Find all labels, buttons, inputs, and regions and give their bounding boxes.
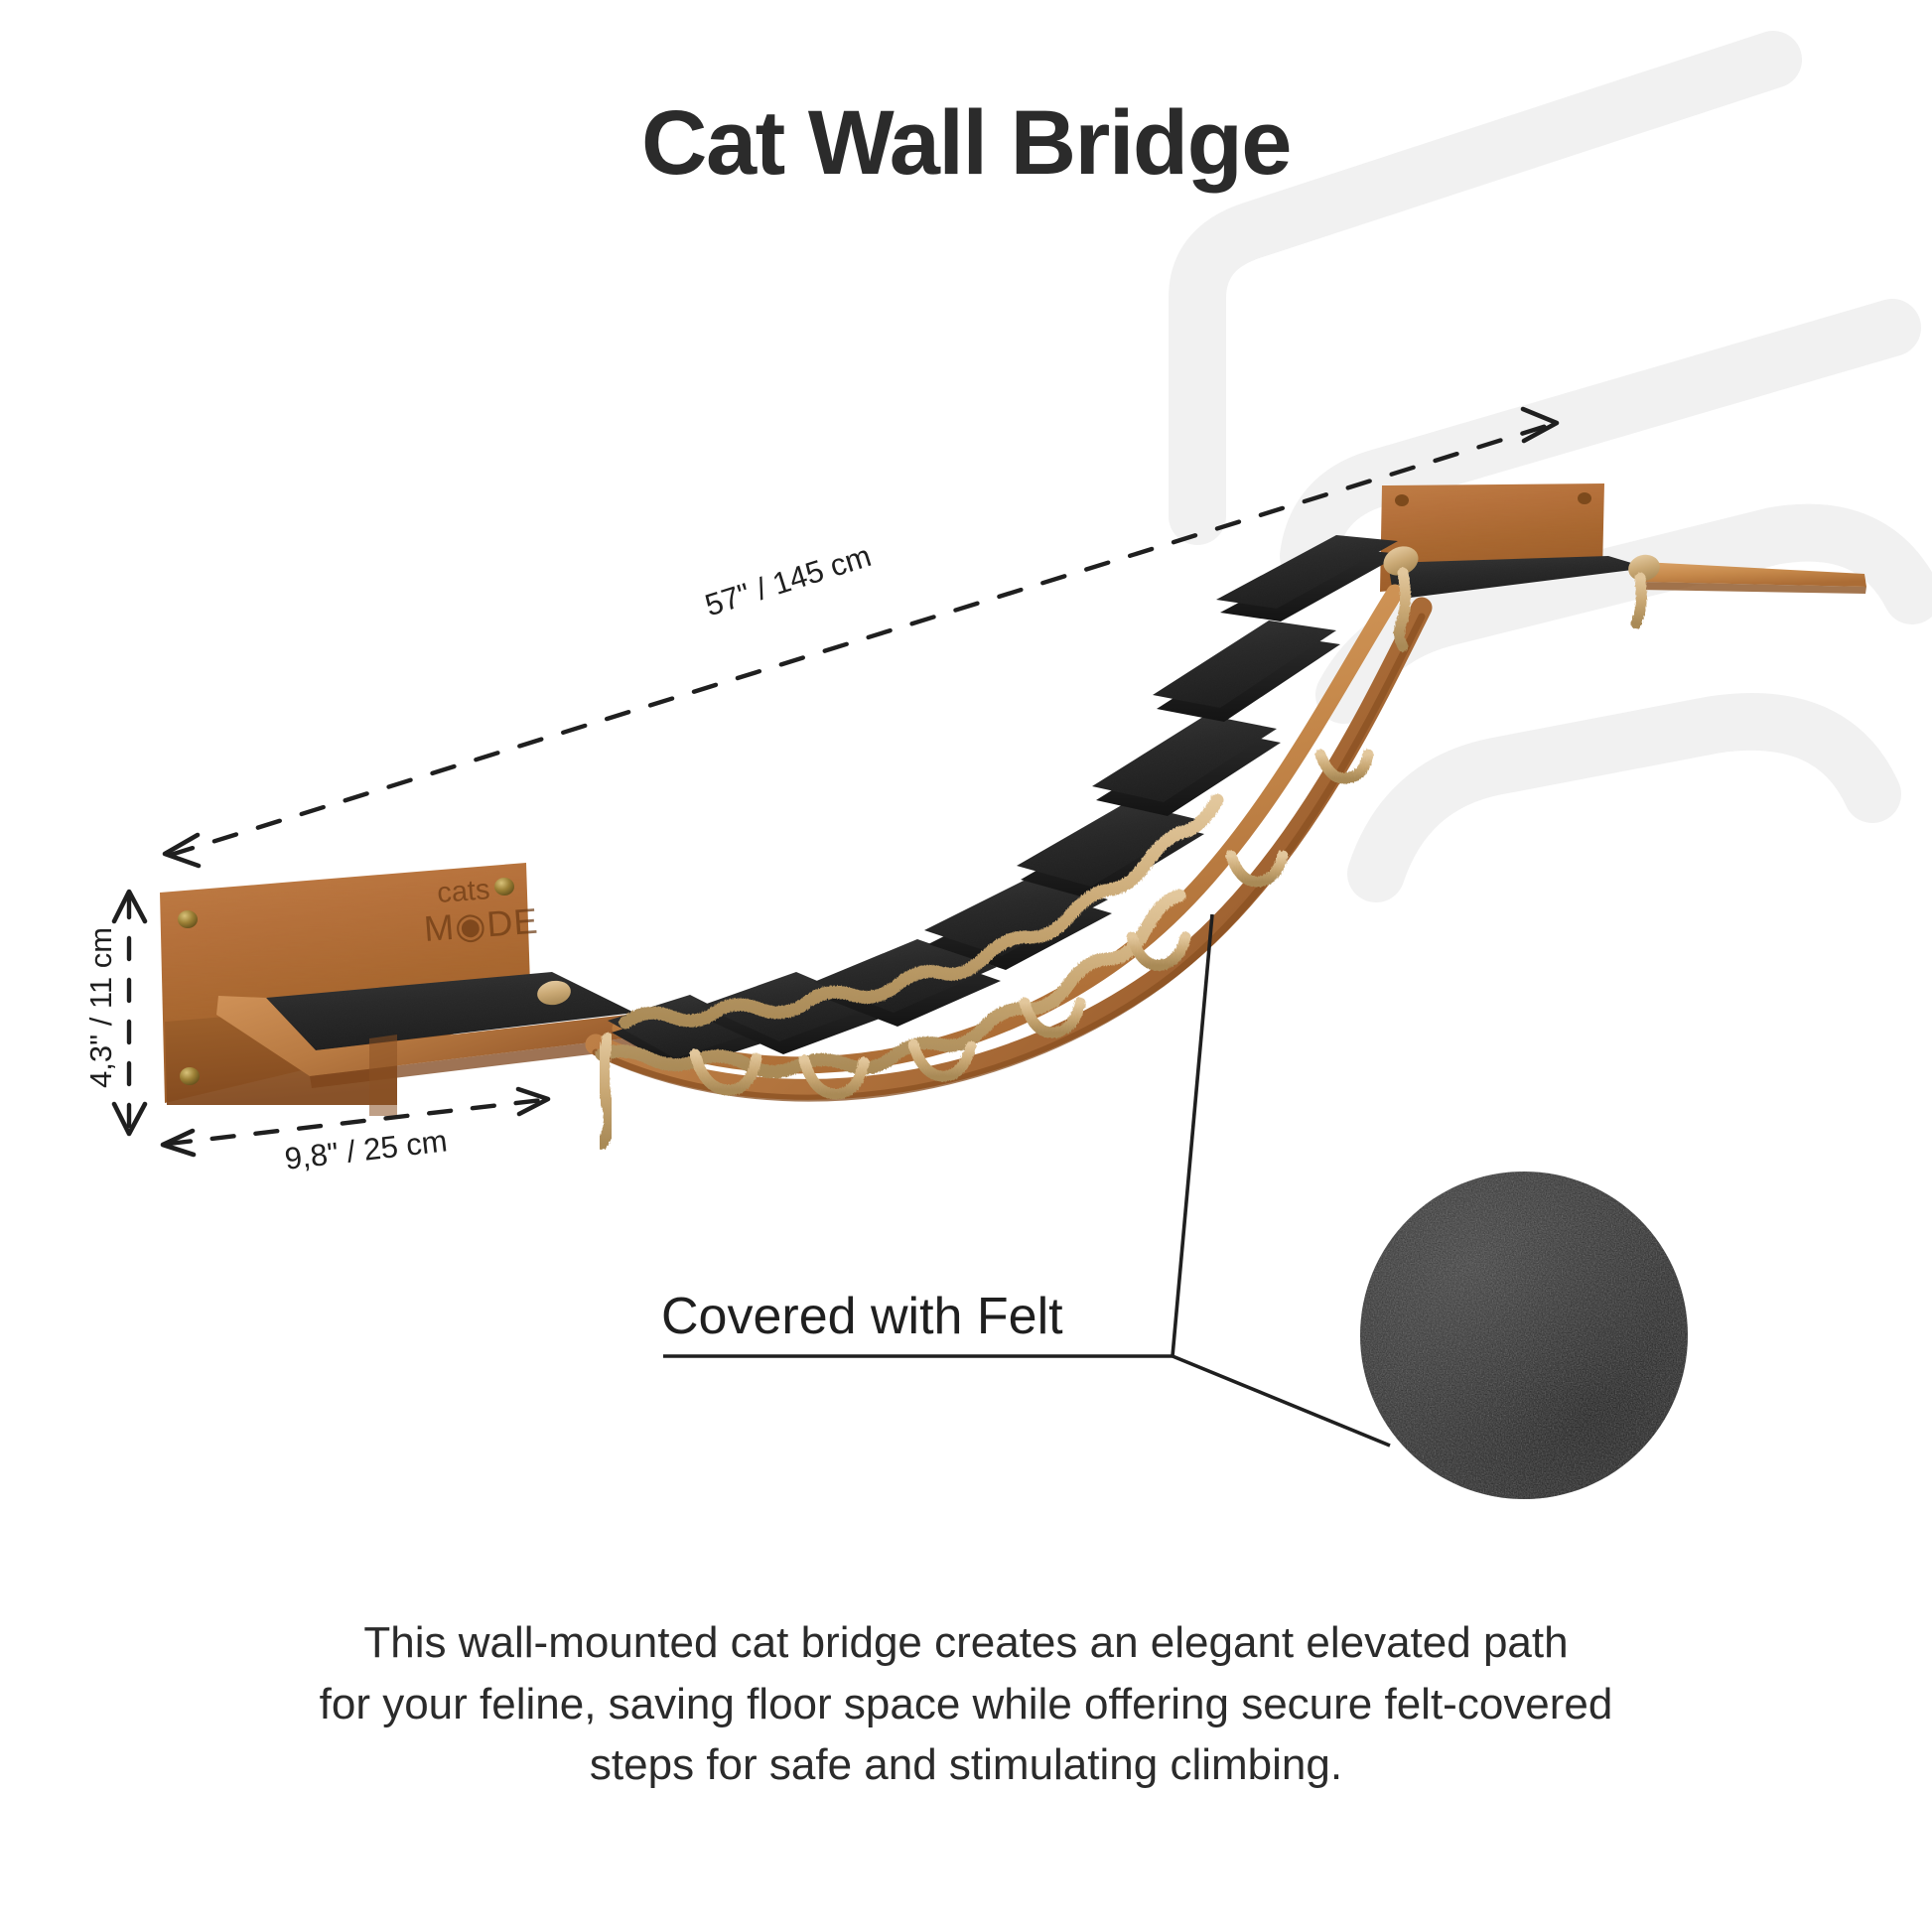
bridge-step: [1092, 715, 1281, 816]
arrow-right-icon: [1523, 409, 1557, 441]
bridge-step: [608, 995, 764, 1070]
svg-text:cats: cats: [436, 874, 490, 909]
bridge-step: [1153, 621, 1340, 722]
left-wall-mount: cats M◉DE: [160, 863, 640, 1116]
bridge-side-rails: [596, 593, 1422, 1098]
arrow-left-icon: [165, 835, 199, 866]
description-line-2: for your feline, saving floor space whil…: [261, 1674, 1671, 1735]
dimension-label-depth: 9,8" / 25 cm: [283, 1123, 449, 1176]
callout-leader-to-steps: [1173, 914, 1212, 1356]
rope-knot: [535, 541, 1662, 1007]
brand-logo-engraving: cats M◉DE: [423, 874, 540, 949]
bridge-step: [701, 972, 880, 1054]
svg-text:M◉DE: M◉DE: [423, 900, 540, 949]
bridge-steps: [608, 535, 1402, 1070]
product-description: This wall-mounted cat bridge creates an …: [261, 1612, 1671, 1796]
infographic-canvas: Cat Wall Bridge: [0, 0, 1932, 1932]
bridge-step: [814, 939, 1001, 1027]
callout-label: Covered with Felt: [661, 1287, 1063, 1346]
description-line-3: steps for safe and stimulating climbing.: [261, 1734, 1671, 1796]
arrow-up-icon: [114, 892, 145, 921]
bridge-rope: [602, 800, 1217, 1072]
right-wall-mount: [1380, 483, 1866, 600]
rope-tail: [602, 1038, 610, 1144]
felt-fiber-texture: [1360, 1172, 1688, 1499]
page-title: Cat Wall Bridge: [0, 91, 1932, 196]
arrow-right-icon: [518, 1089, 548, 1114]
bridge-step: [1216, 535, 1402, 621]
callout-leader-to-swatch: [1173, 1356, 1390, 1446]
dimension-line-length: [171, 425, 1550, 855]
rope-knot-tail: [1399, 573, 1641, 646]
dimension-label-height: 4,3" / 11 cm: [83, 927, 119, 1088]
bridge-rope-loops: [695, 755, 1368, 1094]
description-line-1: This wall-mounted cat bridge creates an …: [261, 1612, 1671, 1674]
dimension-line-depth: [169, 1100, 542, 1144]
felt-texture-swatch: [1360, 1172, 1688, 1499]
dimension-label-length: 57" / 145 cm: [701, 538, 876, 623]
bridge-step: [924, 877, 1112, 970]
bridge-step: [1017, 802, 1204, 900]
arrow-down-icon: [114, 1104, 145, 1134]
arrow-left-icon: [163, 1131, 194, 1155]
